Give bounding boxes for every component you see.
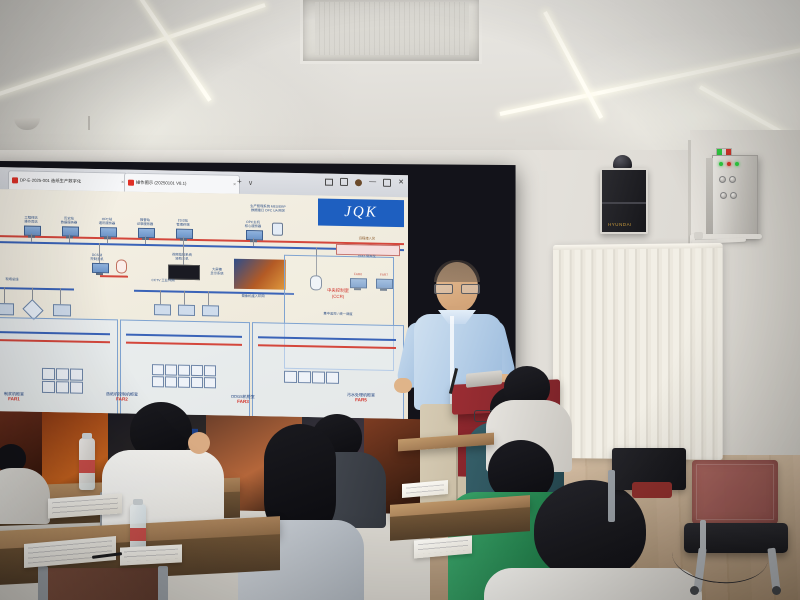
cabinet-rack-group: [42, 368, 83, 394]
column-radiator: [553, 243, 723, 460]
hvac-ceiling-vent: [300, 0, 482, 64]
chair-frame: [158, 566, 168, 600]
minimize-button[interactable]: —: [369, 178, 376, 186]
new-tab-button[interactable]: +: [237, 178, 242, 186]
cabinet-side-panel: [706, 158, 713, 238]
field-device-icon: [154, 304, 171, 315]
account-avatar-icon[interactable]: [355, 179, 362, 186]
field-device-icon: [178, 305, 195, 316]
notepad[interactable]: [120, 544, 182, 565]
node-label: 工程师站操作员站: [14, 215, 48, 224]
pdf-icon: [128, 180, 134, 186]
maximize-button[interactable]: [383, 179, 391, 187]
node-connector: [69, 234, 70, 242]
attendee-body: [484, 568, 702, 600]
node-connector: [145, 236, 146, 244]
zone-label-far2: 造纸机控制机柜室FAR2: [92, 391, 152, 402]
node-label: 历史站数据服务器: [52, 216, 86, 225]
bus-line-red: [100, 275, 128, 277]
node-label: 生产管理系统 MES/ERP数据接口 OPC UA 网关: [236, 204, 300, 213]
notepad-lines: [406, 484, 444, 493]
ccr-label: 中央控制室 (CCR): [298, 287, 378, 300]
node-label: 报警站记录服务器: [128, 218, 162, 227]
window-controls: — ✕: [325, 178, 404, 188]
cabinet-push-button[interactable]: [730, 192, 737, 199]
chair-back[interactable]: [44, 568, 162, 600]
node-connector: [183, 237, 184, 245]
firewall-icon: [272, 223, 283, 236]
browser-tab-1-label: DP-E-2025-001 造纸生产数字化: [20, 177, 81, 184]
node-label: 现场总线: [0, 277, 30, 282]
node-label: 打印站管理终端: [166, 218, 200, 227]
field-device-icon: [53, 304, 71, 316]
unit-seam: [602, 202, 646, 204]
ceiling-mount-rod: [88, 116, 90, 130]
node-connector: [60, 288, 61, 304]
chair-frame: [608, 470, 615, 522]
workstation-node: [92, 263, 107, 274]
chair-caster: [690, 586, 699, 595]
jqk-logo: JQK: [318, 198, 404, 227]
converter-icon: [116, 259, 127, 273]
node-connector: [107, 235, 108, 243]
status-lamp-green: [719, 162, 723, 166]
chair-caster: [772, 586, 781, 595]
browser-tab-1[interactable]: DP-E-2025-001 造纸生产数字化 ×: [8, 170, 128, 191]
conduit-clamp: [694, 232, 703, 239]
ccr-code: (CCR): [332, 293, 344, 298]
cabinet-push-button[interactable]: [720, 192, 727, 199]
notepad-lines: [124, 549, 178, 562]
screenshot-scene: DP-E-2025-001 造纸生产数字化 × 操作图示 (20250101 V…: [0, 0, 800, 600]
node-connector: [160, 290, 161, 304]
water-bottle[interactable]: [79, 438, 95, 490]
node-label: CCTV 工业环网: [144, 278, 182, 283]
video-preview-tile: [234, 259, 286, 290]
attendee-head: [534, 480, 646, 580]
node-connector: [253, 238, 254, 246]
presenter-hair: [434, 260, 480, 282]
node-label: 远程接入区: [340, 236, 394, 241]
attendee-long-hair: [242, 424, 358, 600]
attendee-white-shirt: [104, 402, 224, 522]
node-label: 大屏幕显示系统: [202, 267, 232, 276]
notepad-lines: [28, 540, 112, 563]
chair-cushion: [632, 482, 672, 498]
cabinet-rack-group: [284, 371, 339, 384]
radiator-top-cap: [553, 243, 723, 250]
node-label: 摄像机接入环网: [230, 294, 276, 299]
cabinet-push-button[interactable]: [719, 176, 726, 183]
hyundai-brand-label: HYUNDAI: [608, 222, 632, 227]
node-connector: [184, 291, 185, 305]
bus-line-blue: [0, 287, 74, 290]
electrical-control-cabinet: [712, 155, 758, 239]
status-lamp-red: [727, 162, 731, 166]
close-icon[interactable]: ×: [233, 182, 236, 188]
node-label: 视频监控系统矩阵主机: [160, 252, 204, 261]
field-device-icon: [202, 305, 219, 316]
attendee-hand: [188, 432, 210, 454]
hyundai-wall-unit: HYUNDAI: [600, 168, 648, 234]
collections-icon[interactable]: [325, 178, 333, 185]
bottle-cap: [133, 499, 143, 505]
node-connector: [183, 245, 184, 265]
presenter-left-hand: [394, 378, 412, 393]
bottle-label: [130, 528, 146, 541]
node-label: OPC主机核心服务器: [234, 220, 272, 229]
status-lamp-green: [735, 162, 739, 166]
node-label: OPC站通讯服务器: [90, 217, 124, 226]
pdf-icon: [12, 177, 18, 183]
chair-frame: [38, 566, 48, 600]
bottle-label: [79, 460, 95, 473]
bottle-cap: [82, 433, 92, 439]
close-button[interactable]: ✕: [398, 179, 404, 187]
attendee-body: [0, 468, 50, 524]
tab-list-chevron-icon[interactable]: ∨: [248, 179, 253, 187]
node-connector: [4, 287, 5, 303]
document-lines: [52, 498, 118, 515]
node-label: DCS站控制主机: [80, 253, 114, 262]
led-video-wall-screen[interactable]: DP-E-2025-001 造纸生产数字化 × 操作图示 (20250101 V…: [0, 167, 408, 428]
browser-tab-2[interactable]: 操作图示 (20250101 V8.1) ×: [124, 173, 240, 194]
glasses-icon: [434, 284, 480, 292]
empty-chair-backrest[interactable]: [692, 460, 778, 524]
zone-label-far5: 污水处理机柜室FAR5: [330, 392, 392, 403]
zone-label-far1: 制浆机柜室FAR1: [0, 391, 42, 402]
ccr-name: 中央控制室: [327, 288, 349, 293]
field-device-icon: [0, 303, 14, 315]
node-connector: [208, 291, 209, 305]
node-connector: [31, 234, 32, 242]
network-topology-diagram: JQK 工程师站操作员站 历史站数据服务器 OPC站通讯服务器 报警站记录服务器…: [0, 189, 408, 428]
document-lines: [418, 540, 468, 554]
browser-tab-2-label: 操作图示 (20250101 V8.1): [136, 180, 186, 187]
settings-icon[interactable]: [340, 178, 348, 186]
cabinet-rack-group: [152, 364, 216, 388]
dome-camera-icon: [613, 155, 632, 169]
node-connector: [99, 243, 100, 263]
cabinet-push-button[interactable]: [729, 176, 736, 183]
